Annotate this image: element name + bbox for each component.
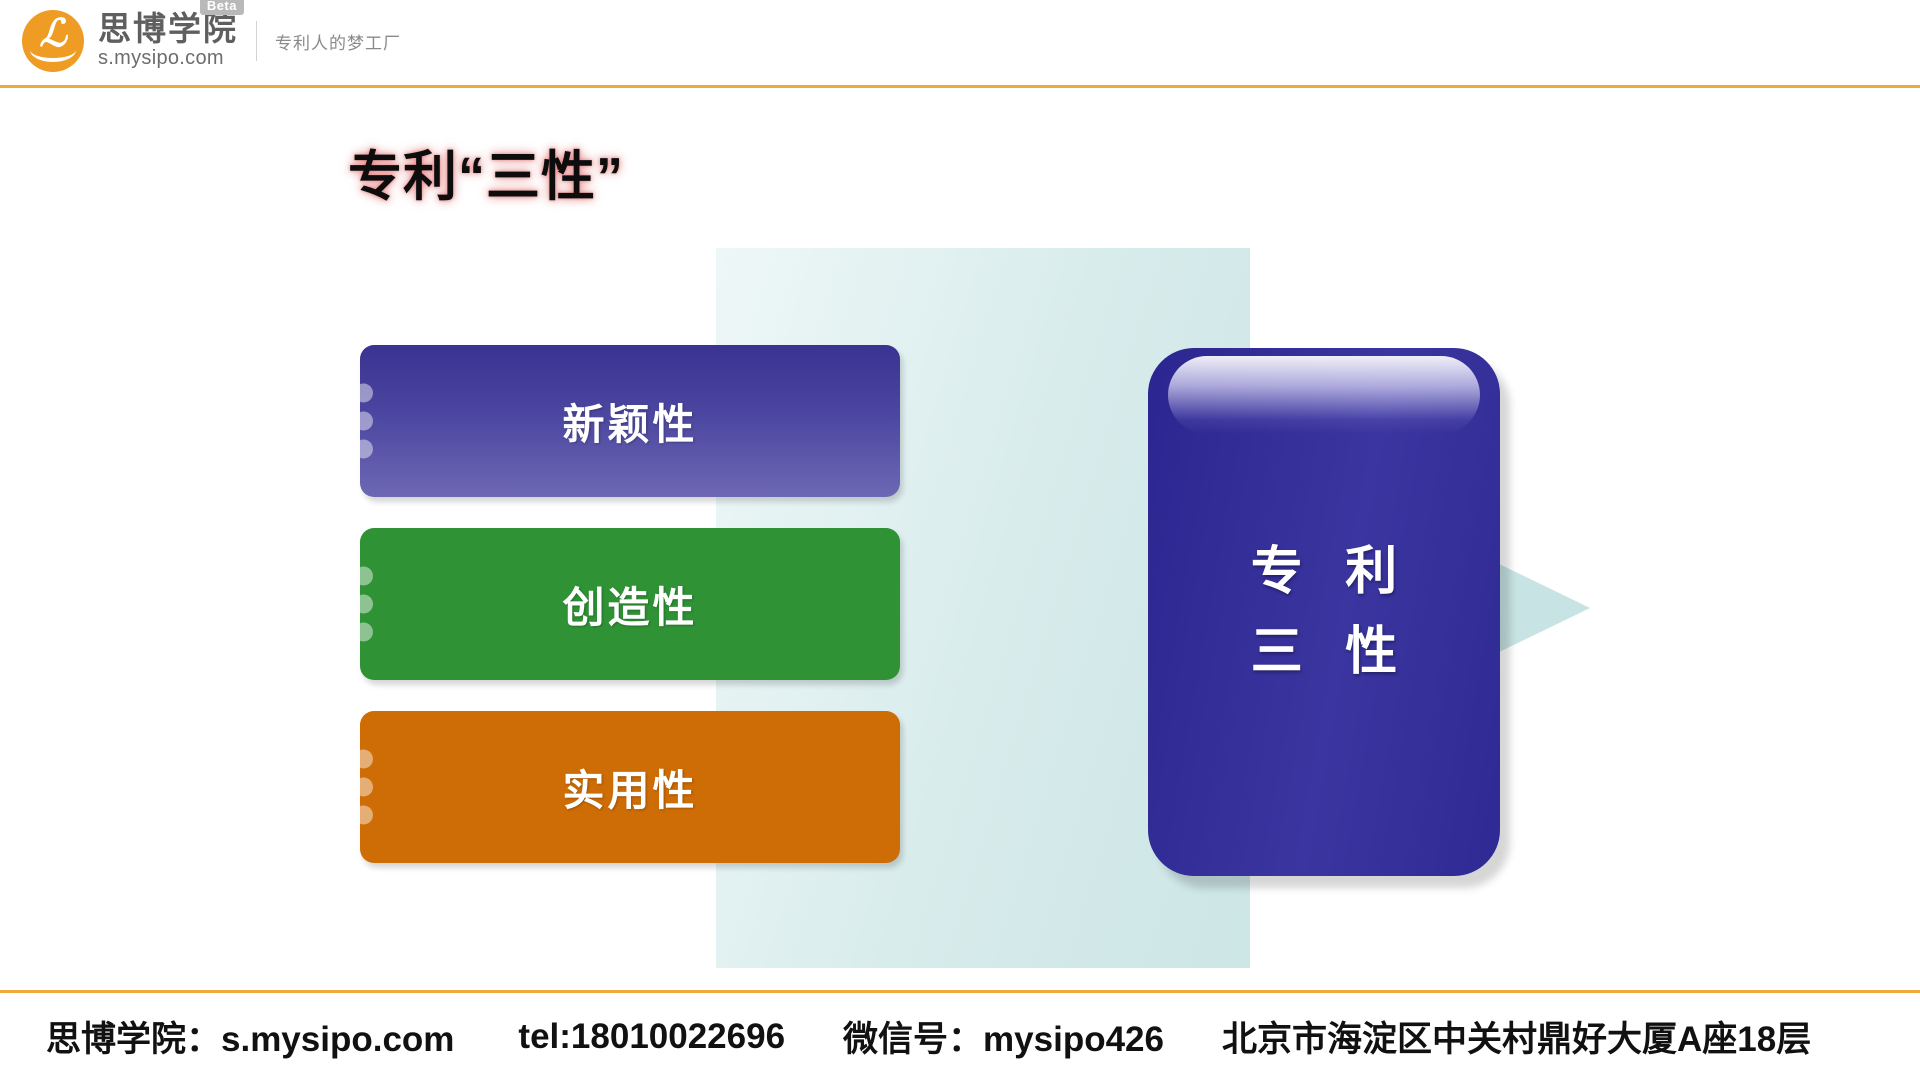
page-title: 专利“三性” bbox=[348, 132, 624, 211]
brand-text: Beta 思博学院 s.mysipo.com bbox=[98, 12, 238, 70]
footer-contact-row: 思博学院：s.mysipo.com tel:18010022696 微信号：my… bbox=[0, 1011, 1811, 1062]
sipo-circle-logo-icon: ℒ bbox=[22, 10, 84, 72]
result-line-2: 三 性 bbox=[1237, 617, 1411, 687]
criteria-bar-utility[interactable]: 实用性 bbox=[360, 711, 900, 863]
bullet-dots-icon bbox=[354, 750, 373, 825]
brand-url: s.mysipo.com bbox=[98, 46, 238, 70]
brand-logo[interactable]: ℒ Beta 思博学院 s.mysipo.com 专利人的梦工厂 bbox=[22, 10, 401, 72]
brand-slogan: 专利人的梦工厂 bbox=[275, 29, 401, 54]
result-line-1: 专 利 bbox=[1237, 537, 1411, 607]
bullet-dots-icon bbox=[354, 567, 373, 642]
footer-address: 北京市海淀区中关村鼎好大厦A座18层 bbox=[1222, 1011, 1811, 1062]
site-header: ℒ Beta 思博学院 s.mysipo.com 专利人的梦工厂 bbox=[0, 0, 1920, 88]
beta-badge: Beta bbox=[200, 0, 244, 15]
criteria-bar-label: 实用性 bbox=[562, 757, 697, 818]
brand-name-cn: 思博学院 bbox=[98, 12, 238, 46]
result-callout-box[interactable]: 专 利 三 性 bbox=[1148, 348, 1500, 876]
footer-wechat: 微信号：mysipo426 bbox=[843, 1011, 1164, 1062]
criteria-bar-list: 新颖性 创造性 实用性 bbox=[360, 345, 900, 863]
footer-org: 思博学院：s.mysipo.com bbox=[46, 1011, 454, 1062]
logo-wave-icon bbox=[30, 50, 76, 62]
footer-tel: tel:18010022696 bbox=[518, 1017, 785, 1057]
site-footer: 思博学院：s.mysipo.com tel:18010022696 微信号：my… bbox=[0, 990, 1920, 1080]
bullet-dots-icon bbox=[354, 384, 373, 459]
criteria-bar-label: 新颖性 bbox=[562, 391, 697, 452]
criteria-bar-inventiveness[interactable]: 创造性 bbox=[360, 528, 900, 680]
result-box-text: 专 利 三 性 bbox=[1148, 348, 1500, 876]
criteria-bar-label: 创造性 bbox=[562, 574, 697, 635]
brand-divider bbox=[256, 21, 257, 61]
criteria-bar-novelty[interactable]: 新颖性 bbox=[360, 345, 900, 497]
slide-canvas: ℒ Beta 思博学院 s.mysipo.com 专利人的梦工厂 专利“三性” bbox=[0, 0, 1920, 1080]
